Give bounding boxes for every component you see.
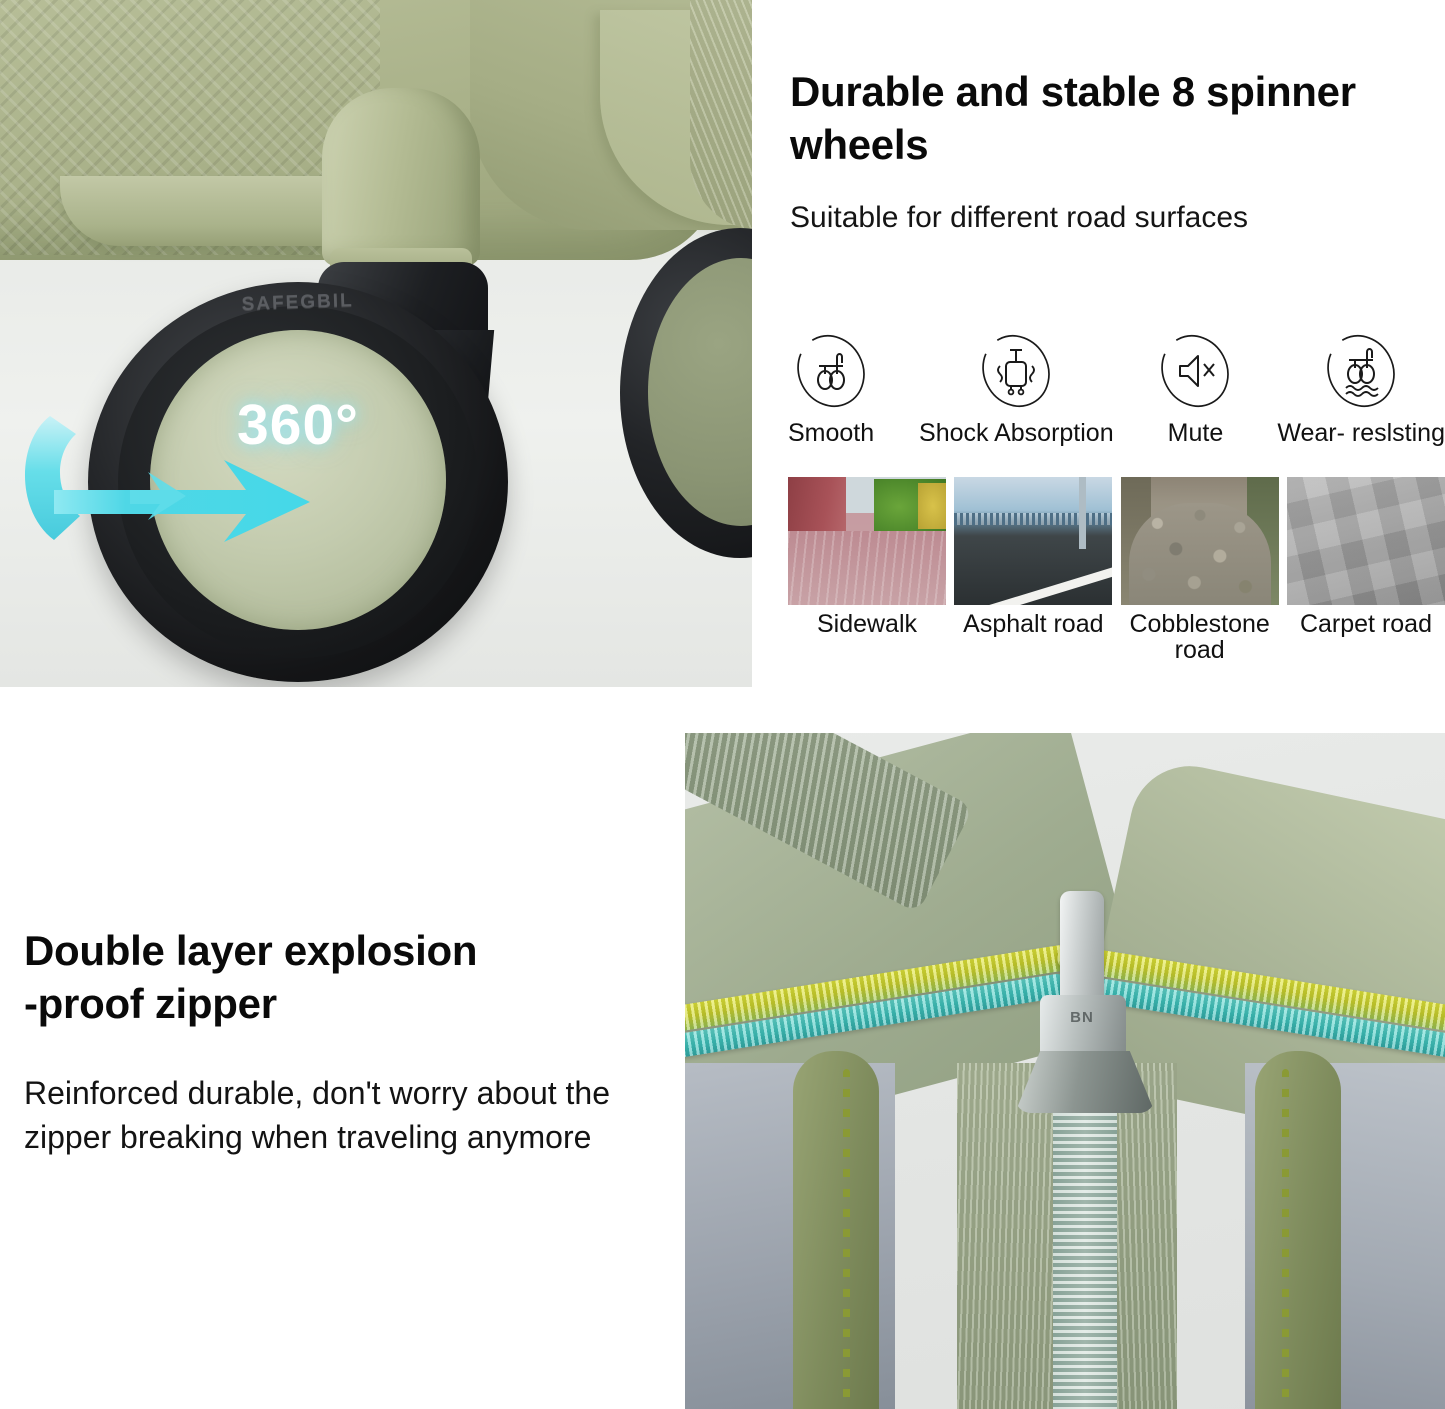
- feature-label: Wear- reslsting: [1277, 420, 1445, 448]
- spinner-wheels-text-column: Durable and stable 8 spinner wheels Suit…: [788, 0, 1445, 687]
- feature-smooth: Smooth: [788, 330, 874, 448]
- zipper-heading-line1: Double layer explosion: [24, 925, 664, 978]
- road-item-asphalt: Asphalt road: [954, 477, 1112, 663]
- cobblestone-road-thumb: [1121, 477, 1279, 605]
- spinner-subheadline: Suitable for different road surfaces: [790, 198, 1445, 237]
- sidewalk-thumb: [788, 477, 946, 605]
- center-tape-left: [957, 1063, 1053, 1409]
- spinner-wheel-photo: SAFEGBIL 360°: [0, 0, 752, 687]
- asphalt-road-thumb: [954, 477, 1112, 605]
- feature-shock-absorption: Shock Absorption: [919, 330, 1114, 448]
- spinner-headline: Durable and stable 8 spinner wheels: [790, 66, 1445, 171]
- zipper-closeup-photo: BN: [685, 733, 1445, 1409]
- feature-icon-row: Smooth: [788, 330, 1445, 448]
- caster-mount: [322, 88, 480, 266]
- piping-left: [793, 1051, 879, 1409]
- stitch-chain-left: [843, 1069, 850, 1409]
- feature-label: Smooth: [788, 420, 874, 448]
- feature-label: Mute: [1168, 420, 1224, 448]
- zipper-pull-marking: BN: [1057, 1009, 1107, 1026]
- feature-wear-resisting: Wear- reslsting: [1277, 330, 1445, 448]
- zipper-heading-line2: -proof zipper: [24, 978, 664, 1031]
- feature-label: Shock Absorption: [919, 420, 1114, 448]
- road-caption: Asphalt road: [963, 612, 1103, 638]
- road-caption: Cobblestone road: [1121, 612, 1279, 663]
- zipper-pull-stem: [1060, 891, 1104, 1009]
- road-caption: Carpet road: [1300, 612, 1432, 638]
- zipper-heading: Double layer explosion -proof zipper: [24, 925, 664, 1031]
- road-item-sidewalk: Sidewalk: [788, 477, 946, 663]
- stitch-chain-right: [1282, 1069, 1289, 1409]
- zipper-body-text: Reinforced durable, don't worry about th…: [24, 1071, 664, 1159]
- piping-right: [1255, 1051, 1341, 1409]
- wheel-on-waves-icon: [1324, 330, 1398, 412]
- road-item-cobblestone: Cobblestone road: [1121, 477, 1279, 663]
- feature-mute: Mute: [1158, 330, 1232, 448]
- 360-degree-badge: 360°: [150, 392, 446, 458]
- road-surface-row: Sidewalk Asphalt road Cobblestone road C…: [788, 477, 1445, 663]
- spinner-wheels-section: SAFEGBIL 360° Durable and stable: [0, 0, 1445, 700]
- zipper-section: Double layer explosion -proof zipper Rei…: [0, 700, 1445, 1409]
- suitcase-zipper-edge: [690, 0, 752, 230]
- caster-wheel-icon: [794, 330, 868, 412]
- inner-zipper-chain: [1053, 1085, 1117, 1409]
- road-item-carpet: Carpet road: [1287, 477, 1445, 663]
- suitcase-vibration-icon: [979, 330, 1053, 412]
- speaker-mute-icon: [1158, 330, 1232, 412]
- road-caption: Sidewalk: [817, 612, 917, 638]
- zipper-text-column: Double layer explosion -proof zipper Rei…: [24, 925, 664, 1159]
- carpet-road-thumb: [1287, 477, 1445, 605]
